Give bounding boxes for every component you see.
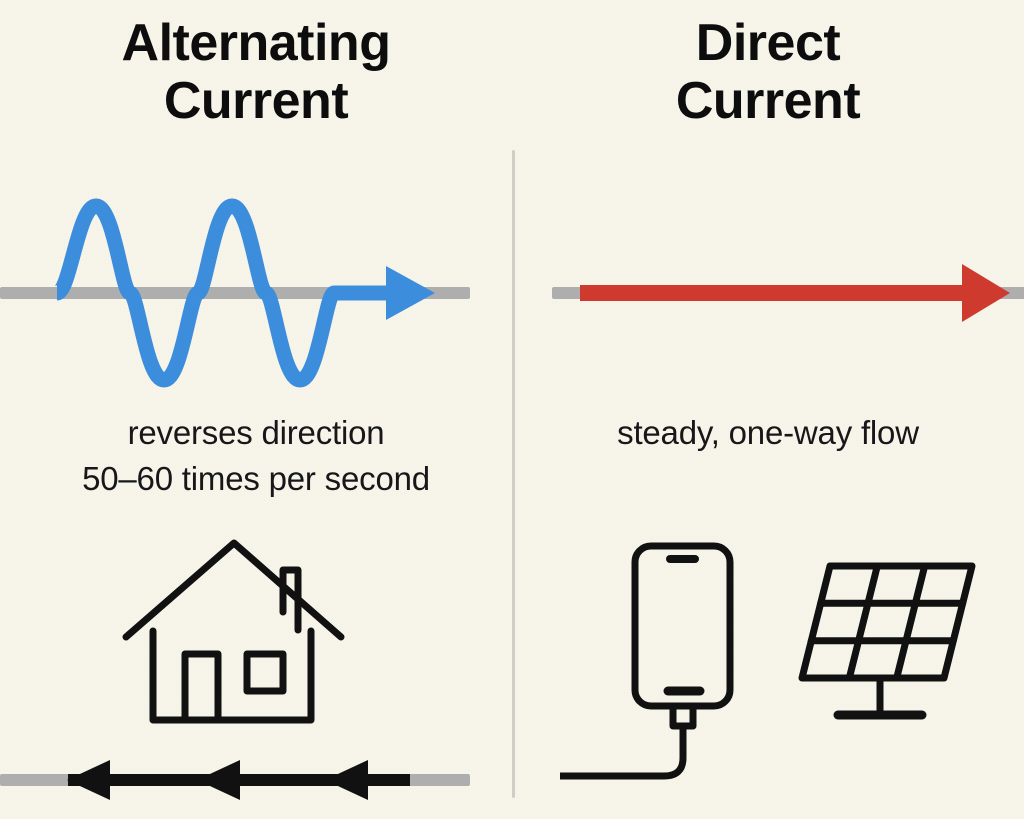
flow-arrowhead-3 [325,760,368,800]
page-title-direct-current: Direct Current [512,14,1024,130]
house-icon [110,530,370,730]
caption-direct-current: steady, one-way flow [512,410,1024,456]
solar-grid-col-2 [897,566,925,678]
dc-arrowhead [962,264,1010,322]
dc-waveform-graphic [552,255,1024,335]
infographic-canvas: Alternating Current reverses direction 5… [0,0,1024,819]
house-window [247,654,283,691]
ac-flow-arrowhead [386,266,435,320]
phone-charging-icon [560,530,760,790]
flow-arrowhead-1 [67,760,110,800]
house-door [185,654,218,720]
house-roof [126,543,341,637]
solar-grid-col-1 [849,566,877,678]
panel-divider [512,150,515,798]
house-chimney [283,570,298,630]
panel-alternating-current: Alternating Current reverses direction 5… [0,0,512,819]
caption-alternating-current: reverses direction 50–60 times per secon… [0,410,512,501]
solar-panel-face [802,566,972,678]
flow-arrowhead-2 [197,760,240,800]
house-walls [153,631,311,720]
reverse-flow-arrows [0,755,480,805]
ac-waveform-graphic [0,180,480,410]
page-title-alternating-current: Alternating Current [0,14,512,130]
dc-arrow-shaft [580,285,970,301]
phone-body [635,546,730,706]
panel-direct-current: Direct Current steady, one-way flow [512,0,1024,819]
phone-charger-cable [560,726,683,776]
solar-panel-icon [780,550,1010,730]
